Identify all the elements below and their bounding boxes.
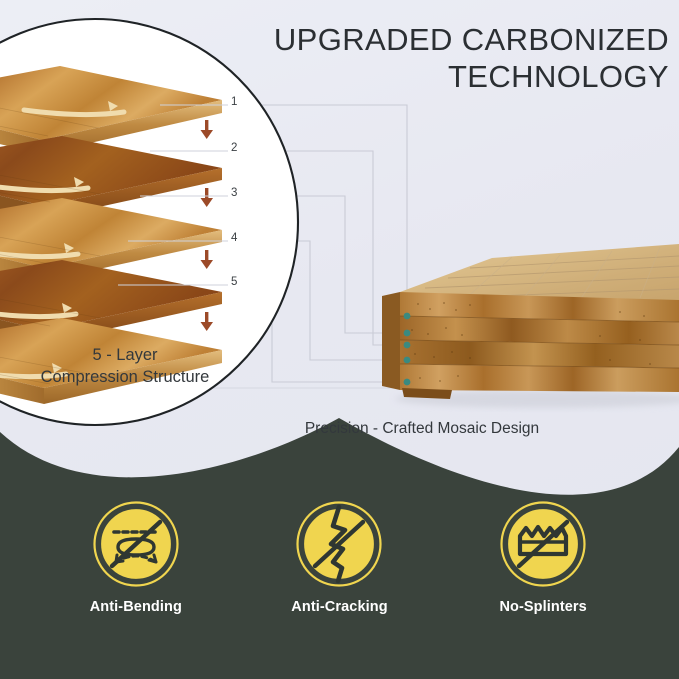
layer-dot-1	[404, 313, 411, 320]
no-bending-icon	[92, 500, 180, 588]
layer-dot-3	[404, 342, 411, 349]
feature-label-no-splinters: No-Splinters	[468, 599, 618, 615]
no-cracking-icon	[295, 500, 383, 588]
feature-badge-row: Anti-Bending Anti-Cracking No-Splinters	[0, 500, 679, 679]
layer-dot-5	[404, 379, 411, 386]
layer-dot-4	[404, 357, 411, 364]
feature-item-anti-cracking[interactable]: Anti-Cracking	[264, 500, 414, 615]
layer-number-4: 4	[231, 232, 237, 244]
layer-dot-2	[404, 330, 411, 337]
layer-number-1: 1	[231, 96, 237, 108]
layer-number-5: 5	[231, 276, 237, 288]
layer-number-2: 2	[231, 142, 237, 154]
feature-label-anti-cracking: Anti-Cracking	[264, 599, 414, 615]
no-splinters-icon	[499, 500, 587, 588]
infographic-canvas: UPGRADED CARBONIZED TECHNOLOGY 1 2 3 4 5…	[0, 0, 679, 679]
page-title: UPGRADED CARBONIZED TECHNOLOGY	[249, 22, 669, 95]
mosaic-design-caption: Precision - Crafted Mosaic Design	[212, 420, 632, 438]
feature-label-anti-bending: Anti-Bending	[61, 599, 211, 615]
product-board-image	[382, 244, 679, 408]
layer-number-3: 3	[231, 187, 237, 199]
layer-structure-caption: 5 - Layer Compression Structure	[0, 345, 250, 389]
feature-item-anti-bending[interactable]: Anti-Bending	[61, 500, 211, 615]
feature-item-no-splinters[interactable]: No-Splinters	[468, 500, 618, 615]
